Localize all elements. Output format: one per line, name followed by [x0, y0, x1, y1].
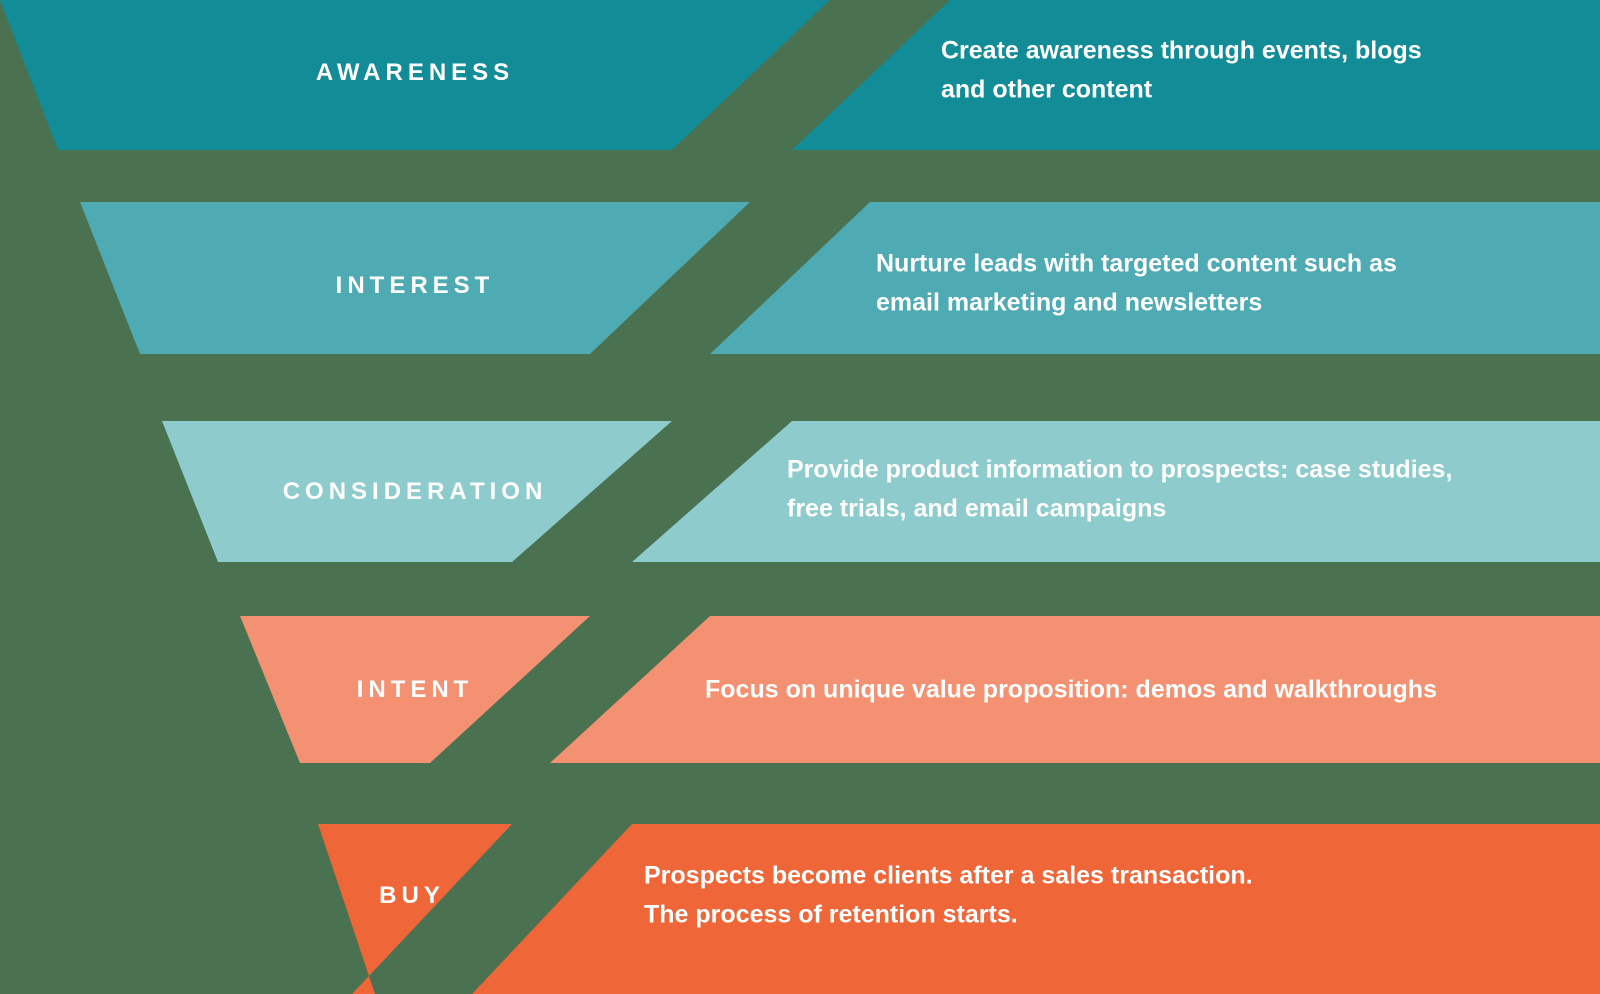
stage-label-awareness: AWARENESS — [316, 59, 514, 87]
stage-label-buy: BUY — [379, 882, 445, 910]
stage-description-awareness: Create awareness through events, blogs a… — [941, 31, 1422, 109]
stage-description-interest: Nurture leads with targeted content such… — [876, 244, 1397, 322]
stage-description-consideration: Provide product information to prospects… — [787, 450, 1452, 528]
stage-description-buy: Prospects become clients after a sales t… — [644, 856, 1253, 934]
stage-label-consideration: CONSIDERATION — [283, 478, 548, 506]
stage-label-interest: INTEREST — [336, 272, 495, 300]
funnel-diagram: AWARENESS Create awareness through event… — [0, 0, 1600, 994]
stage-label-intent: INTENT — [357, 676, 474, 704]
stage-description-intent: Focus on unique value proposition: demos… — [705, 671, 1437, 710]
